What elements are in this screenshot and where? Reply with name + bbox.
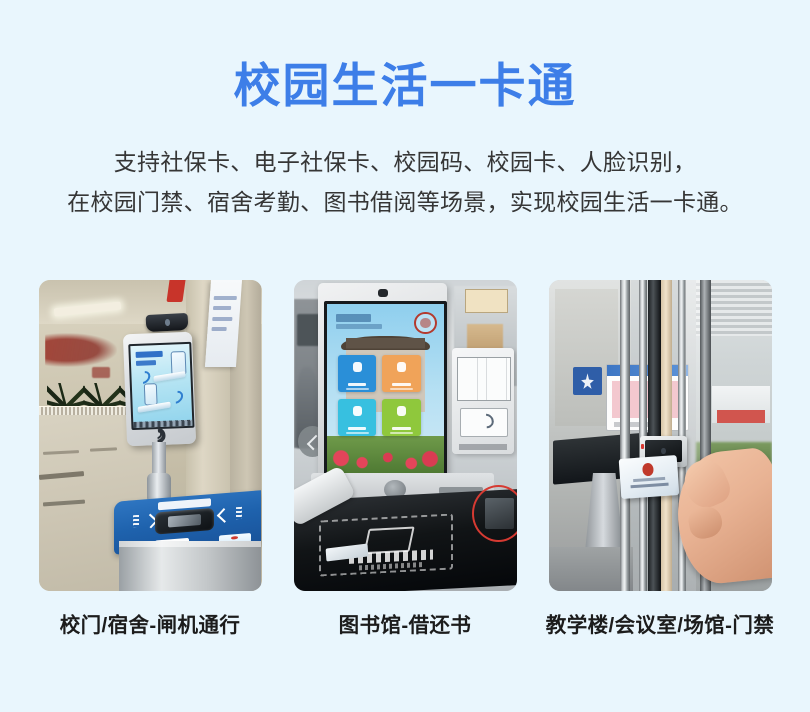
kiosk-tile-query[interactable] bbox=[338, 399, 376, 436]
kiosk-screen bbox=[324, 301, 446, 476]
scenario-card[interactable]: 教学楼/会议室/场馆-门禁 bbox=[549, 280, 772, 638]
search-icon bbox=[353, 406, 362, 416]
screen-headline bbox=[136, 351, 164, 359]
door-mullion bbox=[620, 280, 630, 591]
self-service-kiosk bbox=[318, 283, 447, 482]
card-icon bbox=[397, 406, 406, 416]
tile-sublabel bbox=[390, 388, 413, 390]
tile-sublabel bbox=[346, 432, 369, 434]
promo-page: 校园生活一卡通 支持社保卡、电子社保卡、校园码、校园卡、人脸识别， 在校园门禁、… bbox=[0, 0, 810, 712]
arrow-left-icon bbox=[218, 508, 233, 523]
red-banner-strip bbox=[166, 280, 185, 302]
tile-sublabel bbox=[346, 388, 369, 390]
national-emblem-icon bbox=[642, 463, 653, 477]
face-recognition-terminal bbox=[123, 332, 196, 447]
flowerbed-illustration bbox=[327, 436, 443, 473]
notice-line bbox=[213, 317, 233, 321]
kiosk-tile-renew[interactable] bbox=[382, 399, 420, 436]
nfc-touch-area bbox=[460, 408, 508, 437]
kiosk-tile-return[interactable] bbox=[382, 355, 420, 392]
subtitle-line-2: 在校园门禁、宿舍考勤、图书借阅等场景，实现校园生活一卡通。 bbox=[0, 182, 810, 222]
tile-sublabel bbox=[390, 432, 413, 434]
subtitle-line-1: 支持社保卡、电子社保卡、校园码、校园卡、人脸识别， bbox=[0, 142, 810, 182]
screen-subheadline bbox=[136, 360, 156, 366]
page-title: 校园生活一卡通 bbox=[0, 0, 810, 109]
card-subtitle-text bbox=[631, 483, 668, 489]
kiosk-tile-borrow[interactable] bbox=[338, 355, 376, 392]
turnstile-label-right bbox=[236, 507, 242, 520]
notice-line bbox=[212, 327, 227, 331]
wall-sign-icon bbox=[573, 367, 602, 395]
wall-instruction-panel bbox=[452, 348, 514, 454]
screen-subtitle bbox=[336, 324, 383, 329]
nfc-wave-icon bbox=[168, 388, 186, 406]
notice-line bbox=[213, 306, 230, 310]
scenario-card[interactable]: 图书馆-借还书 bbox=[294, 280, 517, 638]
background-notice bbox=[465, 289, 507, 313]
tile-label bbox=[348, 383, 366, 386]
turnstile-body bbox=[119, 541, 262, 591]
nfc-reader-icon bbox=[145, 427, 168, 440]
wall-slogan-text bbox=[45, 333, 116, 367]
phone-illustration bbox=[144, 383, 158, 406]
status-led-indicator bbox=[641, 444, 644, 449]
scenario-caption: 图书馆-借还书 bbox=[339, 608, 472, 638]
camera-icon bbox=[378, 289, 388, 297]
return-icon bbox=[397, 362, 406, 372]
overhead-camera-icon bbox=[145, 313, 188, 332]
counter-illustration bbox=[154, 371, 186, 382]
book-icon bbox=[353, 362, 362, 372]
tile-label bbox=[392, 427, 410, 430]
scenario-photo-access-control bbox=[549, 280, 772, 591]
terminal-screen bbox=[129, 342, 196, 430]
qr-code-scanner bbox=[156, 508, 215, 535]
wall-notice-board bbox=[205, 280, 242, 367]
tile-label bbox=[348, 427, 366, 430]
highlighted-device bbox=[485, 498, 514, 529]
wall-slogan-signature bbox=[92, 367, 110, 378]
scenario-caption: 教学楼/会议室/场馆-门禁 bbox=[546, 608, 774, 638]
tile-label bbox=[392, 383, 410, 386]
outdoor-building bbox=[712, 386, 770, 423]
school-emblem-icon bbox=[414, 312, 437, 335]
book-icon bbox=[363, 526, 414, 554]
card-title-text bbox=[633, 477, 666, 482]
panel-caption bbox=[459, 444, 508, 450]
scenario-card-list: 校门/宿舍-闸机通行 bbox=[0, 280, 810, 638]
notice-line bbox=[214, 296, 237, 300]
scenario-photo-turnstile bbox=[39, 280, 262, 591]
social-security-card bbox=[619, 455, 680, 499]
turnstile-label-left bbox=[133, 515, 139, 528]
instruction-table bbox=[457, 357, 510, 401]
page-subtitle: 支持社保卡、电子社保卡、校园码、校园卡、人脸识别， 在校园门禁、宿舍考勤、图书借… bbox=[0, 109, 810, 222]
scenario-caption: 校门/宿舍-闸机通行 bbox=[60, 608, 241, 638]
screen-title bbox=[336, 314, 371, 322]
scenario-card[interactable]: 校门/宿舍-闸机通行 bbox=[39, 280, 262, 638]
scenario-photo-library bbox=[294, 280, 517, 591]
reader-sensor-dot bbox=[661, 448, 665, 454]
